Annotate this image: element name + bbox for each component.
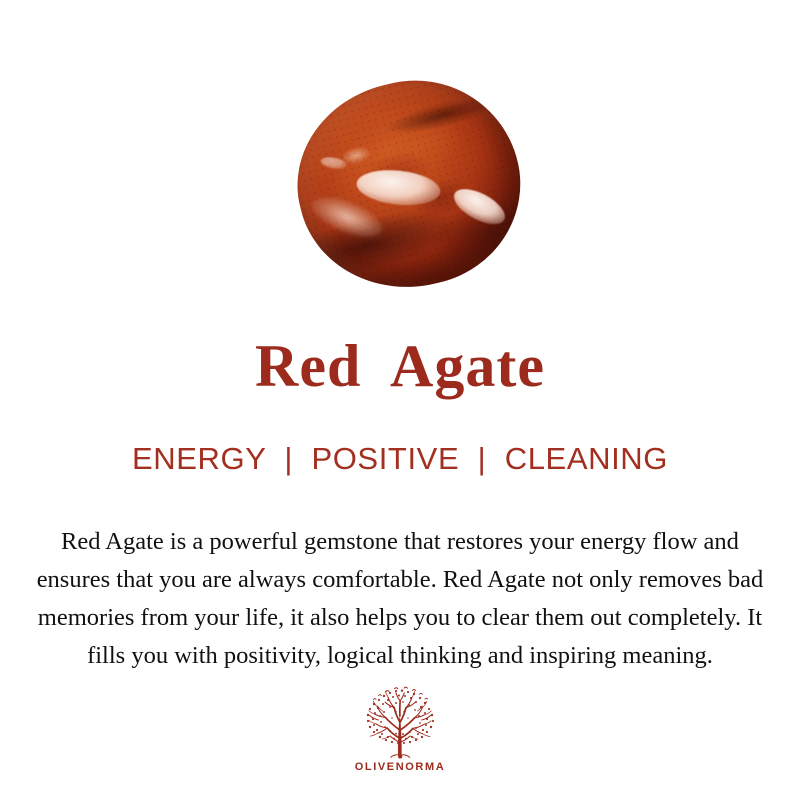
page-title: Red Agate [0, 333, 800, 399]
product-description: Red Agate is a powerful gemstone that re… [24, 523, 776, 675]
gemstone-icon [277, 58, 542, 311]
product-image-container [0, 62, 800, 302]
product-info-card: Red Agate ENERGY | POSITIVE | CLEANING R… [0, 0, 800, 800]
tree-of-life-icon [354, 686, 446, 760]
keywords-subtitle: ENERGY | POSITIVE | CLEANING [0, 440, 800, 478]
brand-name: OLIVENORMA [355, 761, 446, 773]
brand-logo: OLIVENORMA [0, 686, 800, 773]
